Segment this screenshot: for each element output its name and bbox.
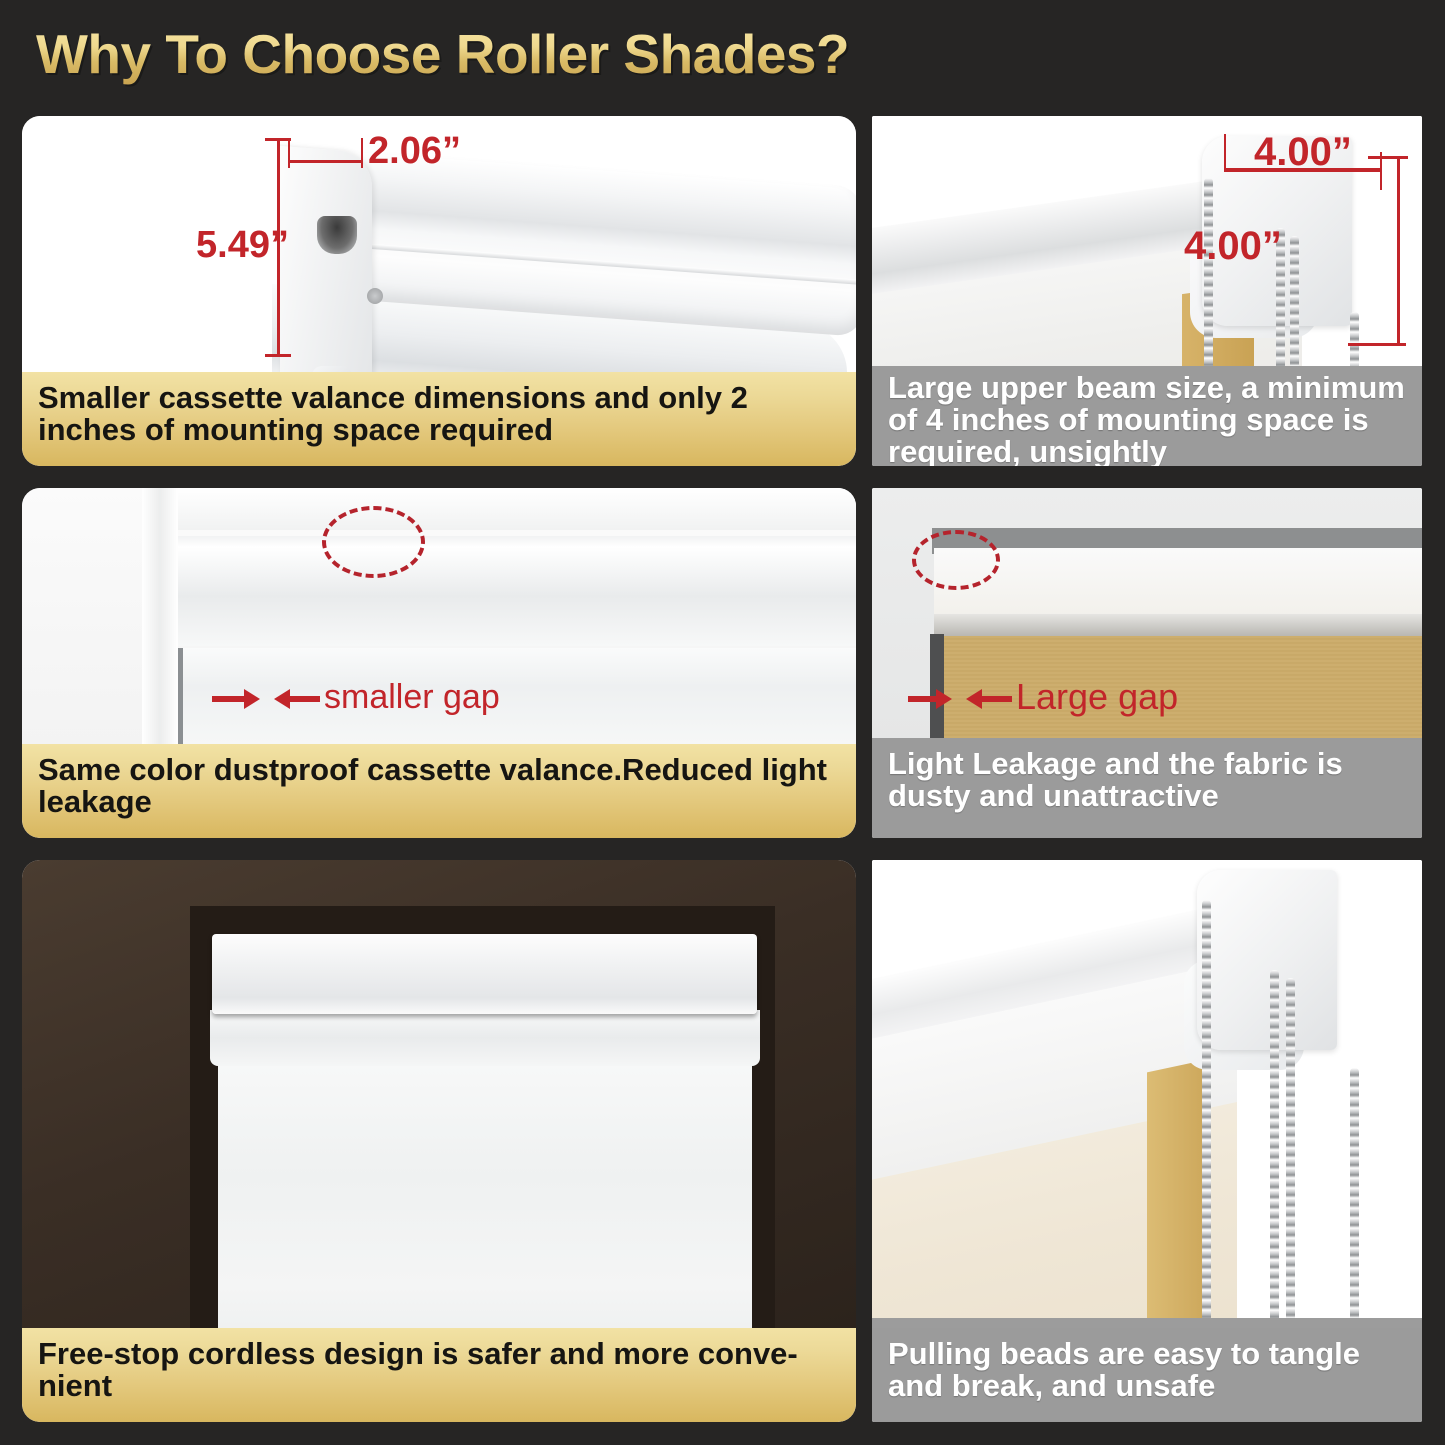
dimension-label-height: 4.00”: [1184, 224, 1282, 269]
gap-label: Large gap: [1016, 676, 1178, 718]
gap-arrow-left-shaft: [212, 696, 246, 702]
bead-chain-icon: [1286, 978, 1295, 1328]
panel-6-caption: Pulling beads are easy to tangle and bre…: [872, 1328, 1422, 1422]
bead-chain-icon: [1202, 900, 1211, 1328]
dim-height-tick-top: [265, 138, 291, 141]
panel-cassette-valance-dimensions: 2.06” 5.49” Smaller cassette valance dim…: [22, 116, 856, 466]
bead-chain-icon: [1270, 970, 1279, 1328]
bracket-slot-icon: [317, 216, 357, 254]
bracket-upper-body: [1197, 870, 1337, 1050]
page-title: Why To Choose Roller Shades?: [36, 22, 849, 86]
panel-6-caption-line2: and break, and unsafe: [888, 1370, 1215, 1402]
valance-beam: [934, 548, 1422, 618]
panel-5-caption-line1: Free-stop cordless design is safer and m…: [38, 1338, 798, 1370]
highlight-ellipse-icon: [912, 530, 1000, 590]
cassette-valance: [178, 536, 856, 646]
infographic-root: Why To Choose Roller Shades? 2.06” 5.49”…: [0, 0, 1445, 1445]
gap-arrow-left-shaft: [908, 696, 938, 702]
shade-fabric-tan-edge: [1147, 1060, 1205, 1328]
panel-4-caption: Light Leakage and the fabric is dusty an…: [872, 738, 1422, 838]
bead-chain-icon: [1350, 1068, 1359, 1328]
gap-arrow-right-shaft: [290, 696, 320, 702]
panel-large-upper-beam: 4.00” 4.00” Large upper beam size, a min…: [872, 116, 1422, 466]
gap-arrow-left-head-icon: [936, 689, 952, 709]
panel-2-caption: Large upper beam size, a minimum of 4 in…: [872, 366, 1422, 466]
panel-3-caption-text: Same color dustproof cassette valance.Re…: [38, 754, 840, 818]
panel-4-caption-text: Light Leakage and the fabric is dusty an…: [888, 748, 1406, 812]
dim-width-line: [288, 160, 363, 163]
window-frame-left: [142, 488, 178, 744]
panel-1-caption: Smaller cassette valance dimensions and …: [22, 372, 856, 466]
gap-arrow-left-head-icon: [244, 689, 260, 709]
panel-5-photo: [22, 860, 856, 1328]
cassette-end-bracket: [280, 146, 372, 372]
bead-chain-icon: [1290, 236, 1299, 374]
cassette-valance: [212, 934, 757, 1014]
gap-label: smaller gap: [324, 678, 500, 717]
shade-fabric: [218, 1064, 752, 1328]
panel-1-caption-text: Smaller cassette valance dimensions and …: [38, 382, 840, 446]
dimension-label-height: 5.49”: [196, 224, 289, 267]
dim-height-tick-bottom: [1348, 343, 1406, 346]
panel-1-photo: 2.06” 5.49”: [22, 116, 856, 372]
panel-5-caption-line2: nient: [38, 1370, 112, 1402]
panel-5-caption: Free-stop cordless design is safer and m…: [22, 1328, 856, 1422]
panel-3-photo: smaller gap: [22, 488, 856, 744]
bead-chain-icon: [1204, 178, 1213, 374]
dimension-label-width: 4.00”: [1254, 130, 1352, 175]
dim-height-line: [1397, 156, 1400, 346]
panel-4-photo: Large gap: [872, 488, 1422, 746]
dim-height-tick-top: [1368, 156, 1408, 159]
beam-bottom-edge: [934, 614, 1422, 636]
dim-height-tick-bottom: [265, 354, 291, 357]
dimension-label-width: 2.06”: [368, 130, 461, 173]
panel-light-leakage-dusty-fabric: Large gap Light Leakage and the fabric i…: [872, 488, 1422, 838]
gap-arrow-right-head-icon: [274, 689, 290, 709]
floor-shadow: [872, 1318, 1422, 1328]
bracket-screw-icon: [367, 288, 383, 304]
panel-dustproof-cassette-valance: smaller gap Same color dustproof cassett…: [22, 488, 856, 838]
gap-edge: [178, 648, 183, 744]
panel-6-photo: [872, 860, 1422, 1328]
dim-width-tick-left: [288, 138, 290, 168]
panel-2-caption-text: Large upper beam size, a minimum of 4 in…: [888, 372, 1406, 466]
dim-width-tick-left: [1224, 134, 1226, 172]
dim-width-tick-right: [361, 138, 363, 168]
highlight-ellipse-icon: [322, 506, 425, 578]
panel-free-stop-cordless-design: Free-stop cordless design is safer and m…: [22, 860, 856, 1422]
gap-arrow-right-head-icon: [966, 689, 982, 709]
panel-3-caption: Same color dustproof cassette valance.Re…: [22, 744, 856, 838]
panel-pulling-beads-tangle: Pulling beads are easy to tangle and bre…: [872, 860, 1422, 1422]
panel-6-caption-line1: Pulling beads are easy to tangle: [888, 1338, 1360, 1370]
gap-arrow-right-shaft: [982, 696, 1012, 702]
roller-tube: [210, 1010, 760, 1066]
panel-2-photo: 4.00” 4.00”: [872, 116, 1422, 374]
window-frame-top: [142, 488, 856, 530]
